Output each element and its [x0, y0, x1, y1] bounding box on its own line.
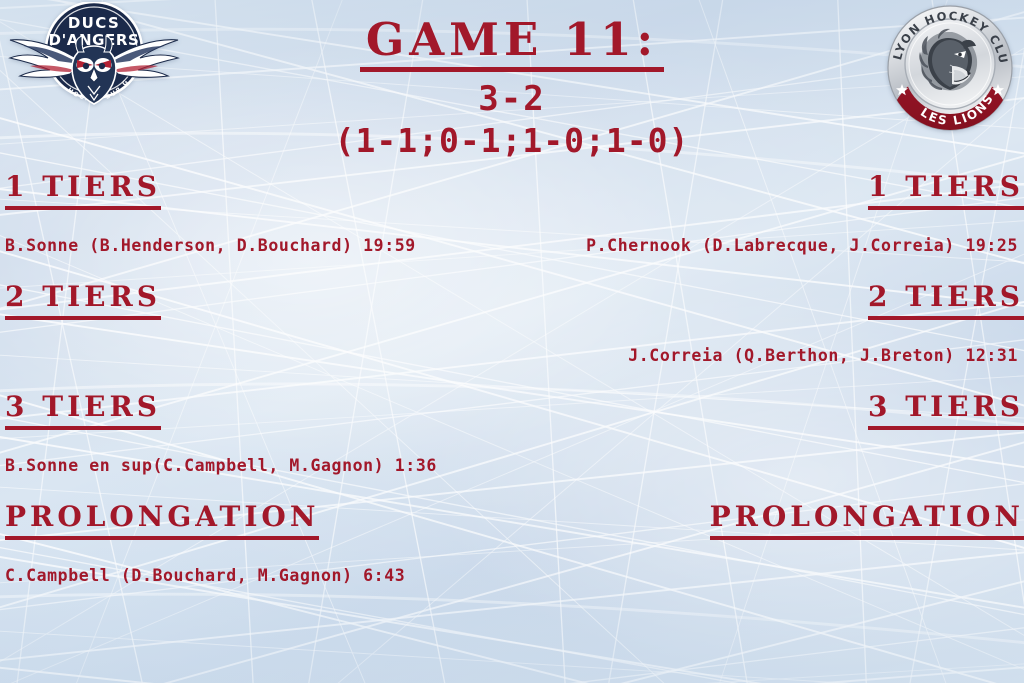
goal-home-2-1 [5, 346, 512, 366]
period-heading-away-2: 2 TIERS [868, 282, 1024, 320]
period-score-breakdown: (1-1;0-1;1-0;1-0) [0, 123, 1024, 159]
period-heading-away-overtime: PROLONGATION [710, 502, 1024, 540]
period-heading-home-overtime: PROLONGATION [5, 502, 319, 540]
goal-away-ot-1 [512, 566, 1024, 586]
away-period-2: 2 TIERS J.Correia (Q.Berthon, J.Breton) … [512, 282, 1024, 366]
game-summary-graphic: DUCS D'ANGERS HOCKEY SUR GLACE [0, 0, 1024, 683]
away-period-1: 1 TIERS P.Chernook (D.Labrecque, J.Corre… [512, 172, 1024, 256]
away-period-3: 3 TIERS [512, 392, 1024, 476]
goal-away-1-1: P.Chernook (D.Labrecque, J.Correia) 19:2… [512, 236, 1024, 256]
period-row-1: 1 TIERS B.Sonne (B.Henderson, D.Bouchard… [0, 172, 1024, 282]
page-title: GAME 11: [360, 16, 664, 72]
home-period-1: 1 TIERS B.Sonne (B.Henderson, D.Bouchard… [0, 172, 512, 256]
goal-away-3-1 [512, 456, 1024, 476]
svg-text:DUCS: DUCS [68, 14, 120, 32]
period-heading-home-1: 1 TIERS [5, 172, 161, 210]
period-row-overtime: PROLONGATION C.Campbell (D.Bouchard, M.G… [0, 502, 1024, 612]
home-period-2: 2 TIERS [0, 282, 512, 366]
scoring-summary: 1 TIERS B.Sonne (B.Henderson, D.Bouchard… [0, 172, 1024, 612]
period-row-3: 3 TIERS B.Sonne en sup(C.Campbell, M.Gag… [0, 392, 1024, 502]
period-heading-home-3: 3 TIERS [5, 392, 161, 430]
period-row-2: 2 TIERS 2 TIERS J.Correia (Q.Berthon, J.… [0, 282, 1024, 392]
goal-home-ot-1: C.Campbell (D.Bouchard, M.Gagnon) 6:43 [5, 566, 512, 586]
home-overtime: PROLONGATION C.Campbell (D.Bouchard, M.G… [0, 502, 512, 586]
goal-away-2-1: J.Correia (Q.Berthon, J.Breton) 12:31 [512, 346, 1024, 366]
goal-home-3-1: B.Sonne en sup(C.Campbell, M.Gagnon) 1:3… [5, 456, 512, 476]
period-heading-home-2: 2 TIERS [5, 282, 161, 320]
home-period-3: 3 TIERS B.Sonne en sup(C.Campbell, M.Gag… [0, 392, 512, 476]
away-overtime: PROLONGATION [512, 502, 1024, 586]
goal-home-1-1: B.Sonne (B.Henderson, D.Bouchard) 19:59 [5, 236, 512, 256]
period-heading-away-1: 1 TIERS [868, 172, 1024, 210]
ducs-dangers-logo: DUCS D'ANGERS HOCKEY SUR GLACE [4, 2, 184, 110]
period-heading-away-3: 3 TIERS [868, 392, 1024, 430]
lyon-hockey-club-logo: LYON HOCKEY CLUB LES LIONS [886, 4, 1014, 132]
